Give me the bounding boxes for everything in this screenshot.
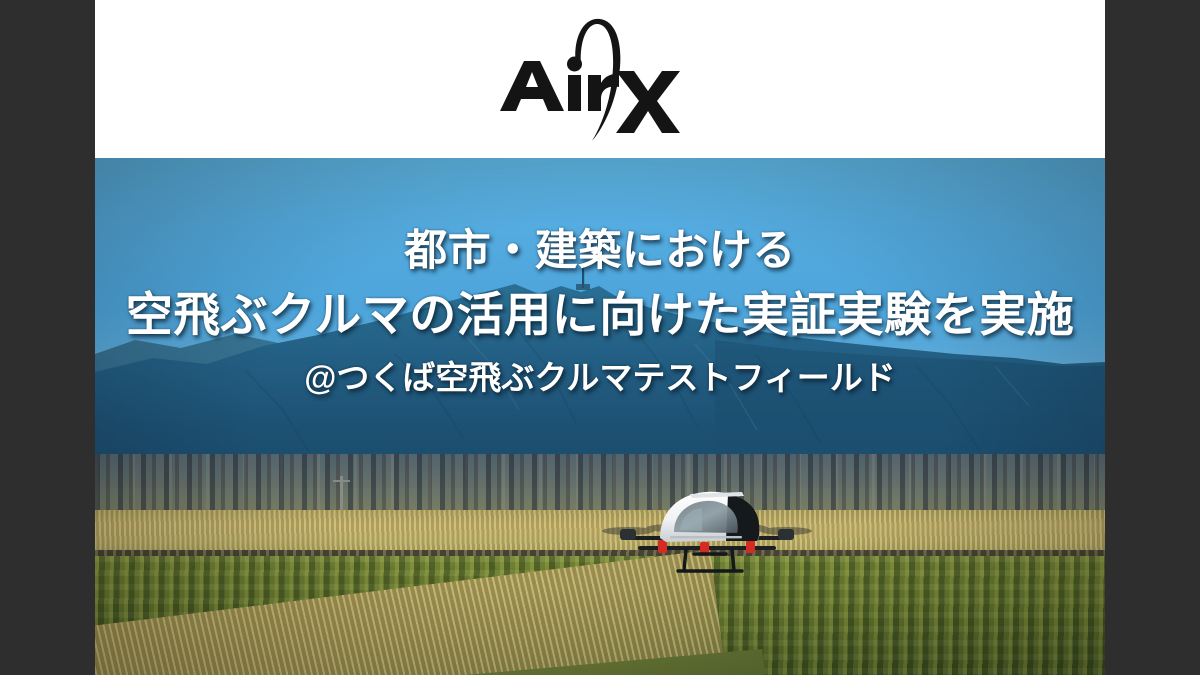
presentation-slide: 都市・建築における 空飛ぶクルマの活用に向けた実証実験を実施 @つくば空飛ぶクル… [95,0,1105,675]
title-subtitle: @つくば空飛ぶクルマテストフィールド [95,356,1105,400]
hero-photo: 都市・建築における 空飛ぶクルマの活用に向けた実証実験を実施 @つくば空飛ぶクル… [95,158,1105,675]
letterbox-bar-left [0,0,95,675]
evtol-drone-icon [582,476,832,586]
title-block: 都市・建築における 空飛ぶクルマの活用に向けた実証実験を実施 @つくば空飛ぶクル… [95,220,1105,400]
title-line-2: 空飛ぶクルマの活用に向けた実証実験を実施 [95,282,1105,348]
title-line-1: 都市・建築における [95,220,1105,282]
slide-stage: 都市・建築における 空飛ぶクルマの活用に向けた実証実験を実施 @つくば空飛ぶクル… [0,0,1200,675]
logo-header-band [95,0,1105,158]
letterbox-bar-right [1105,0,1200,675]
airx-logo [488,9,718,149]
